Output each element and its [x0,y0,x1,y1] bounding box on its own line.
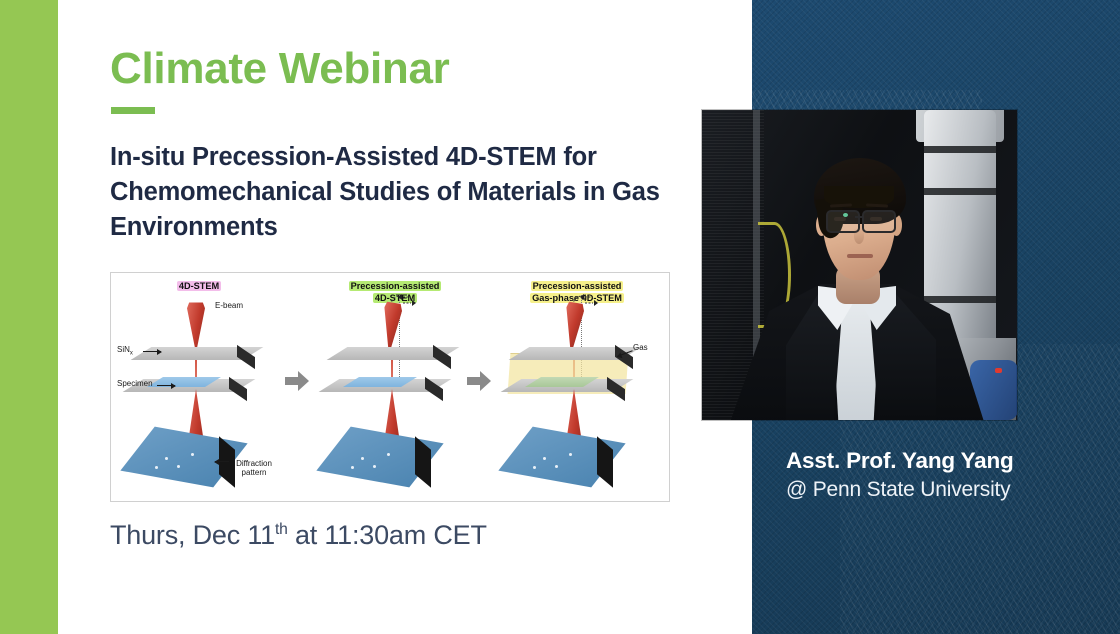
diffraction-detector-plate [509,435,631,481]
status-led [995,368,1002,373]
microscope-band-3 [924,296,996,303]
label-diffraction-pattern: Diffractionpattern [229,459,279,477]
label-e-beam: E-beam [215,301,243,310]
figure-panel-4d-stem: 4D-STEM [115,273,283,501]
leader-diffraction [215,461,229,462]
datetime-date: Thurs, Dec 11 [110,520,275,550]
glasses-lens-right [862,210,896,233]
figure-4d-stem-schematic: 4D-STEM [110,272,670,502]
left-green-accent-bar [0,0,58,634]
electron-beam-cone [187,301,205,353]
arrow-right-icon [284,369,310,393]
panel-title-line1: Precession-assisted [349,281,442,291]
microscope-band-2 [924,188,996,195]
speaker-affiliation: @ Penn State University [786,478,1010,502]
panel-title: 4D-STEM [115,281,283,293]
label-gas: Gas [633,343,648,352]
portrait-mouth [847,254,873,258]
glasses-bridge [855,216,863,218]
label-sinx: SiNx [117,345,133,357]
panel-title-line1: 4D-STEM [177,281,221,291]
datetime-ordinal-suffix: th [275,521,288,538]
speaker-name: Asst. Prof. Yang Yang [786,448,1014,474]
title-underline-rule [111,107,155,114]
lens-glint [843,213,848,217]
webinar-headline: In-situ Precession-Assisted 4D-STEM for … [110,140,690,245]
speaker-portrait-photo [702,110,1017,420]
portrait-nose [854,228,864,244]
microscope-column [924,110,996,340]
leader-specimen [157,385,175,386]
label-specimen: Specimen [117,379,153,388]
webinar-datetime: Thurs, Dec 11th at 11:30am CET [110,520,487,551]
figure-panel-gas-phase-4d-stem: Precession-assisted Gas-phase 4D-STEM [493,273,661,501]
webinar-slide: Asst. Prof. Yang Yang @ Penn State Unive… [0,0,1120,634]
figure-panel-precession-4d-stem: Precession-assisted 4D-STEM [311,273,479,501]
diffraction-detector-plate [327,435,449,481]
panel-2-scene [311,307,479,497]
page-title: Climate Webinar [110,46,449,92]
leader-sinx [143,351,161,352]
microscope-band-1 [924,146,996,153]
datetime-time: at 11:30am CET [288,520,487,550]
panel-title-line1: Precession-assisted [531,281,624,291]
panel-3-scene: Gas [493,307,661,497]
panel-1-scene: E-beam SiNx Specimen Diffractionpattern [115,307,283,497]
